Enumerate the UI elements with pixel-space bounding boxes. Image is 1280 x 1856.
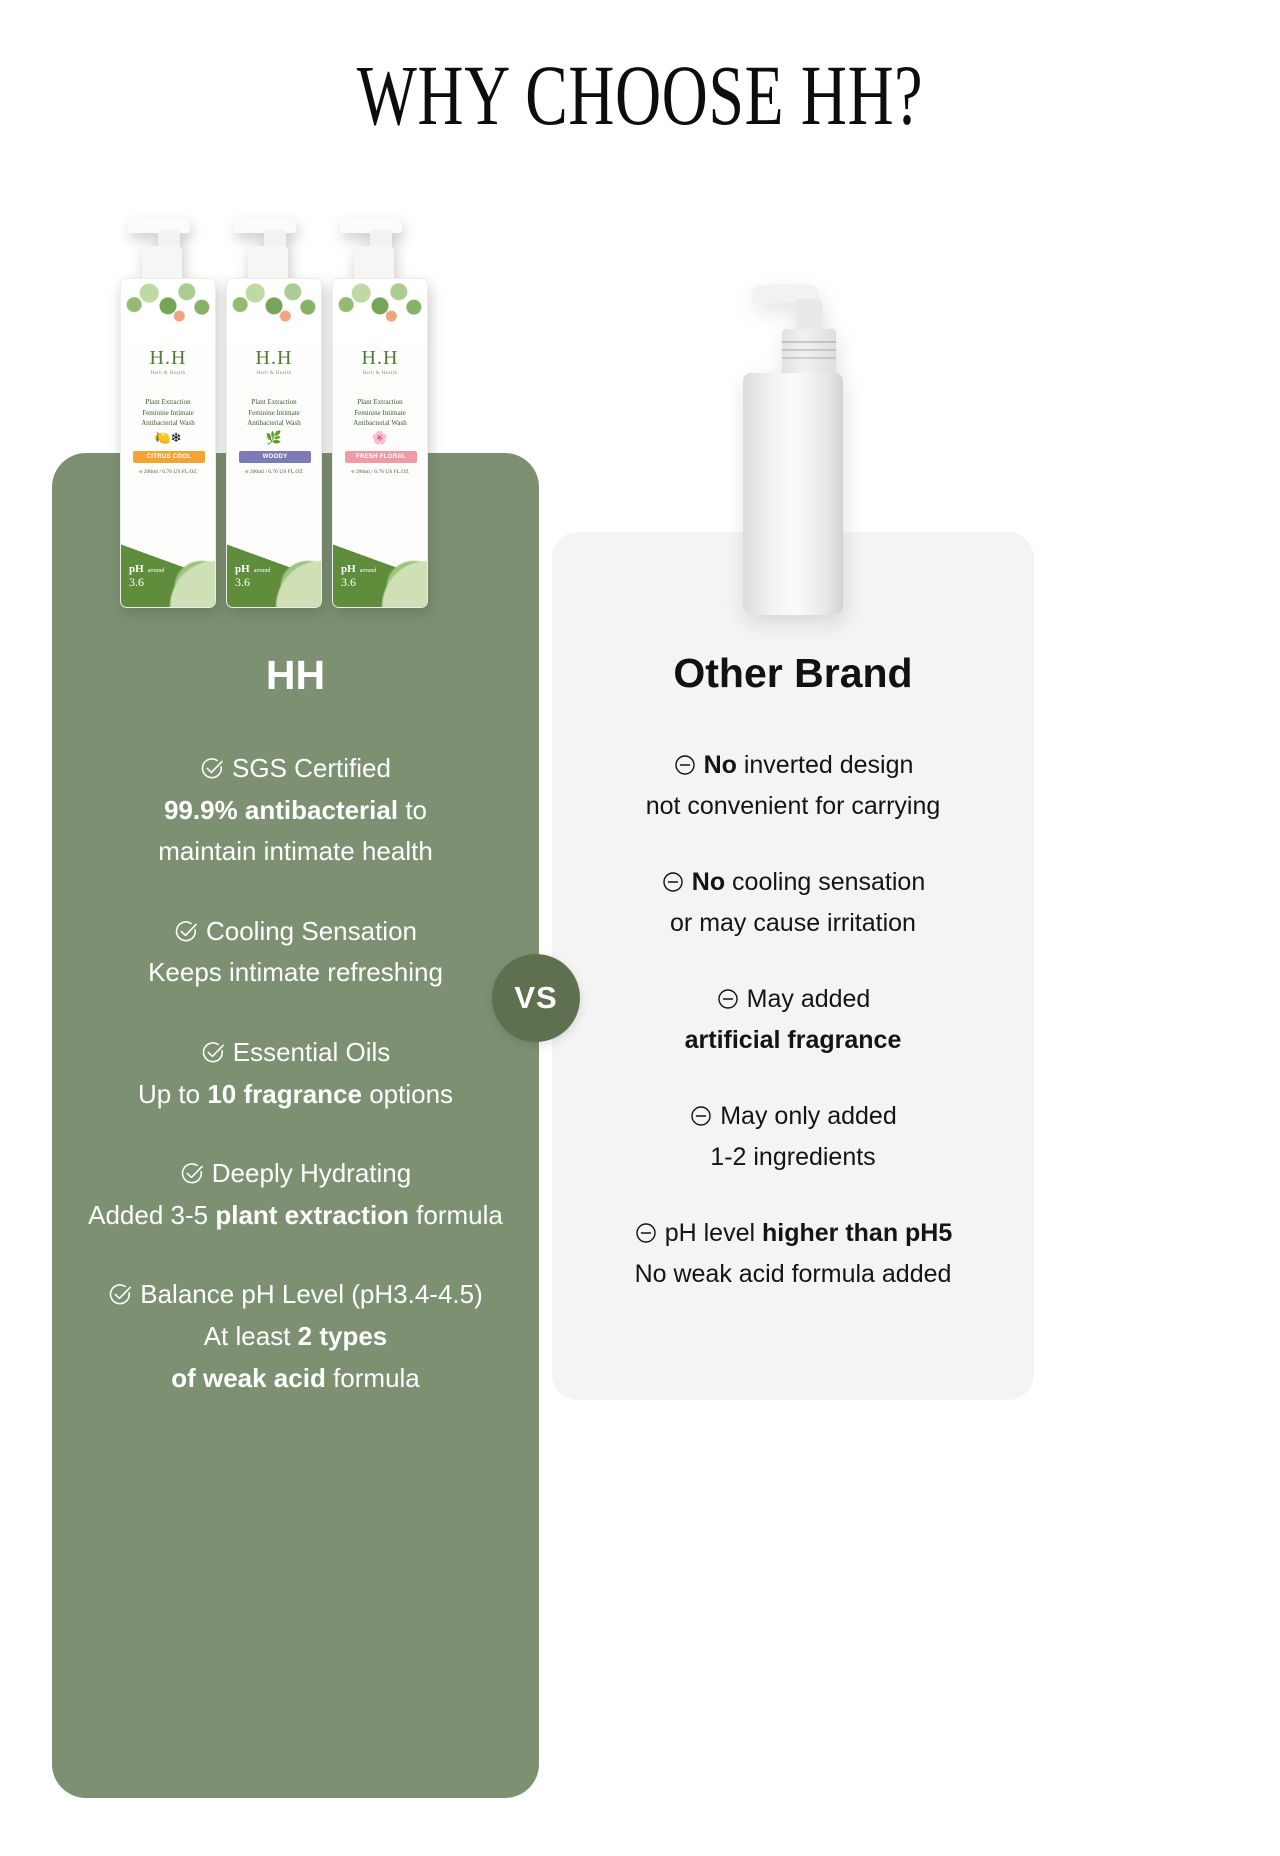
- feature-text: maintain intimate health: [158, 836, 433, 866]
- feature-text: May only added: [720, 1102, 897, 1130]
- bottle-ph-label: pH: [129, 563, 144, 575]
- hh-feature-list: SGS Certified99.9% antibacterial tomaint…: [52, 748, 539, 1437]
- check-circle-icon: [200, 756, 225, 781]
- bottle-ph-value: 3.6: [129, 576, 164, 589]
- feature-line: maintain intimate health: [52, 831, 539, 873]
- feature-item: Essential OilsUp to 10 fragrance options: [52, 1032, 539, 1115]
- bottle-ph-value: 3.6: [235, 576, 270, 589]
- feature-item: Cooling SensationKeeps intimate refreshi…: [52, 911, 539, 994]
- check-circle-icon: [108, 1282, 133, 1307]
- feature-text: May added: [747, 985, 871, 1013]
- bottle-variant-label: FRESH FLORAL: [345, 451, 417, 463]
- hh-product-bottle: H.HHerb & HealthPlant ExtractionFeminine…: [332, 218, 428, 608]
- bottle-ph-label: pH: [341, 563, 356, 575]
- feature-text: 1-2 ingredients: [710, 1143, 875, 1171]
- bottle-logo-subtitle: Herb & Health: [333, 371, 427, 376]
- bottle-pump: [340, 218, 418, 248]
- bottle-ph-info: pH around3.6: [235, 560, 270, 589]
- feature-text: cooling sensation: [725, 868, 925, 896]
- bottle-ph-around: around: [148, 568, 165, 574]
- feature-text: formula: [409, 1200, 503, 1230]
- feature-item: Balance pH Level (pH3.4-4.5)At least 2 t…: [52, 1274, 539, 1399]
- bottle-variant-icon: 🌸: [333, 431, 427, 444]
- feature-text: Up to: [138, 1079, 207, 1109]
- bottle-body: H.HHerb & HealthPlant ExtractionFeminine…: [226, 278, 322, 608]
- feature-line: No inverted design: [552, 745, 1034, 786]
- hh-product-bottles-group: H.HHerb & HealthPlant ExtractionFeminine…: [120, 218, 440, 608]
- feature-text: Cooling Sensation: [206, 916, 417, 946]
- feature-text: Keeps intimate refreshing: [148, 957, 443, 987]
- check-circle-icon: [180, 1161, 205, 1186]
- feature-line: not convenient for carrying: [552, 786, 1034, 827]
- feature-text: 10 fragrance: [207, 1079, 362, 1109]
- minus-circle-icon: [689, 1104, 713, 1128]
- feature-text: No: [692, 868, 725, 896]
- bottle-ph-value: 3.6: [341, 576, 376, 589]
- feature-line: Cooling Sensation: [52, 911, 539, 953]
- feature-line: pH level higher than pH5: [552, 1213, 1034, 1254]
- other-brand-feature-list: No inverted designnot convenient for car…: [552, 745, 1034, 1330]
- feature-line: At least 2 types: [52, 1316, 539, 1358]
- feature-text: Essential Oils: [233, 1037, 391, 1067]
- feature-text: of weak acid: [171, 1363, 326, 1393]
- check-circle-icon: [174, 919, 199, 944]
- feature-item: Deeply HydratingAdded 3-5 plant extracti…: [52, 1153, 539, 1236]
- feature-text: artificial fragrance: [685, 1026, 902, 1054]
- feature-line: 99.9% antibacterial to: [52, 790, 539, 832]
- bottle-description: Plant ExtractionFeminine IntimateAntibac…: [121, 397, 215, 429]
- bottle-collar: [354, 246, 394, 282]
- bottle-collar: [248, 246, 288, 282]
- feature-line: Essential Oils: [52, 1032, 539, 1074]
- minus-circle-icon: [634, 1221, 658, 1245]
- bottle-pump: [128, 218, 206, 248]
- bottle-collar: [142, 246, 182, 282]
- bottle-variant-label: WOODY: [239, 451, 311, 463]
- other-bottle-collar: [782, 329, 836, 377]
- page-title: WHY CHOOSE HH?: [166, 52, 1113, 138]
- feature-text: 99.9% antibacterial: [164, 795, 398, 825]
- feature-line: Added 3-5 plant extraction formula: [52, 1195, 539, 1237]
- hh-product-bottle: H.HHerb & HealthPlant ExtractionFeminine…: [226, 218, 322, 608]
- feature-text: inverted design: [737, 751, 914, 779]
- feature-item: No cooling sensationor may cause irritat…: [552, 862, 1034, 943]
- bottle-variant-label: CITRUS COOL: [133, 451, 205, 463]
- other-bottle-stem: [796, 299, 822, 333]
- feature-text: options: [362, 1079, 453, 1109]
- minus-circle-icon: [716, 987, 740, 1011]
- bottle-logo: H.HHerb & Health: [333, 347, 427, 376]
- feature-line: Balance pH Level (pH3.4-4.5): [52, 1274, 539, 1316]
- bottle-pump: [234, 218, 312, 248]
- bottle-logo: H.HHerb & Health: [121, 347, 215, 376]
- feature-line: May added: [552, 979, 1034, 1020]
- bottle-description: Plant ExtractionFeminine IntimateAntibac…: [333, 397, 427, 429]
- bottle-volume: ℮ 200ml / 6.76 US FL.OZ: [333, 469, 427, 475]
- feature-item: SGS Certified99.9% antibacterial tomaint…: [52, 748, 539, 873]
- feature-text: 2 types: [298, 1321, 388, 1351]
- bottle-body: H.HHerb & HealthPlant ExtractionFeminine…: [332, 278, 428, 608]
- feature-line: Keeps intimate refreshing: [52, 952, 539, 994]
- bottle-ph-label: pH: [235, 563, 250, 575]
- feature-line: Up to 10 fragrance options: [52, 1074, 539, 1116]
- minus-circle-icon: [673, 753, 697, 777]
- feature-text: or may cause irritation: [670, 909, 916, 937]
- feature-item: pH level higher than pH5No weak acid for…: [552, 1213, 1034, 1294]
- feature-text: pH level: [665, 1219, 762, 1247]
- feature-item: May only added1-2 ingredients: [552, 1096, 1034, 1177]
- bottle-ph-info: pH around3.6: [129, 560, 164, 589]
- feature-line: No weak acid formula added: [552, 1254, 1034, 1295]
- feature-text: higher than pH5: [762, 1219, 952, 1247]
- hh-column-heading: HH: [52, 652, 539, 699]
- minus-circle-icon: [661, 870, 685, 894]
- bottle-logo: H.HHerb & Health: [227, 347, 321, 376]
- bottle-logo-subtitle: Herb & Health: [121, 371, 215, 376]
- feature-item: No inverted designnot convenient for car…: [552, 745, 1034, 826]
- other-brand-column-heading: Other Brand: [552, 650, 1034, 697]
- bottle-body: H.HHerb & HealthPlant ExtractionFeminine…: [120, 278, 216, 608]
- bottle-logo-subtitle: Herb & Health: [227, 371, 321, 376]
- feature-line: No cooling sensation: [552, 862, 1034, 903]
- feature-text: Balance pH Level (pH3.4-4.5): [140, 1279, 483, 1309]
- other-bottle-body: [743, 373, 843, 615]
- check-circle-icon: [201, 1040, 226, 1065]
- vs-badge: VS: [492, 954, 580, 1042]
- bottle-variant-icon: 🍋❄: [121, 431, 215, 444]
- bottle-description: Plant ExtractionFeminine IntimateAntibac…: [227, 397, 321, 429]
- feature-text: At least: [204, 1321, 298, 1351]
- feature-item: May addedartificial fragrance: [552, 979, 1034, 1060]
- bottle-ph-around: around: [254, 568, 271, 574]
- bottle-variant-icon: 🌿: [227, 431, 321, 444]
- feature-line: 1-2 ingredients: [552, 1137, 1034, 1178]
- feature-text: Deeply Hydrating: [212, 1158, 411, 1188]
- feature-text: plant extraction: [215, 1200, 409, 1230]
- feature-text: Added 3-5: [88, 1200, 215, 1230]
- feature-line: May only added: [552, 1096, 1034, 1137]
- bottle-ph-around: around: [360, 568, 377, 574]
- bottle-volume: ℮ 200ml / 6.76 US FL.OZ: [227, 469, 321, 475]
- bottle-volume: ℮ 200ml / 6.76 US FL.OZ: [121, 469, 215, 475]
- feature-line: of weak acid formula: [52, 1358, 539, 1400]
- hh-product-bottle: H.HHerb & HealthPlant ExtractionFeminine…: [120, 218, 216, 608]
- feature-text: formula: [326, 1363, 420, 1393]
- feature-text: SGS Certified: [232, 753, 391, 783]
- feature-text: to: [398, 795, 427, 825]
- feature-text: No weak acid formula added: [635, 1260, 952, 1288]
- feature-text: No: [704, 751, 737, 779]
- feature-line: artificial fragrance: [552, 1020, 1034, 1061]
- feature-line: SGS Certified: [52, 748, 539, 790]
- feature-text: not convenient for carrying: [646, 792, 941, 820]
- bottle-ph-info: pH around3.6: [341, 560, 376, 589]
- other-brand-bottle-image: [738, 285, 848, 615]
- feature-line: or may cause irritation: [552, 903, 1034, 944]
- feature-line: Deeply Hydrating: [52, 1153, 539, 1195]
